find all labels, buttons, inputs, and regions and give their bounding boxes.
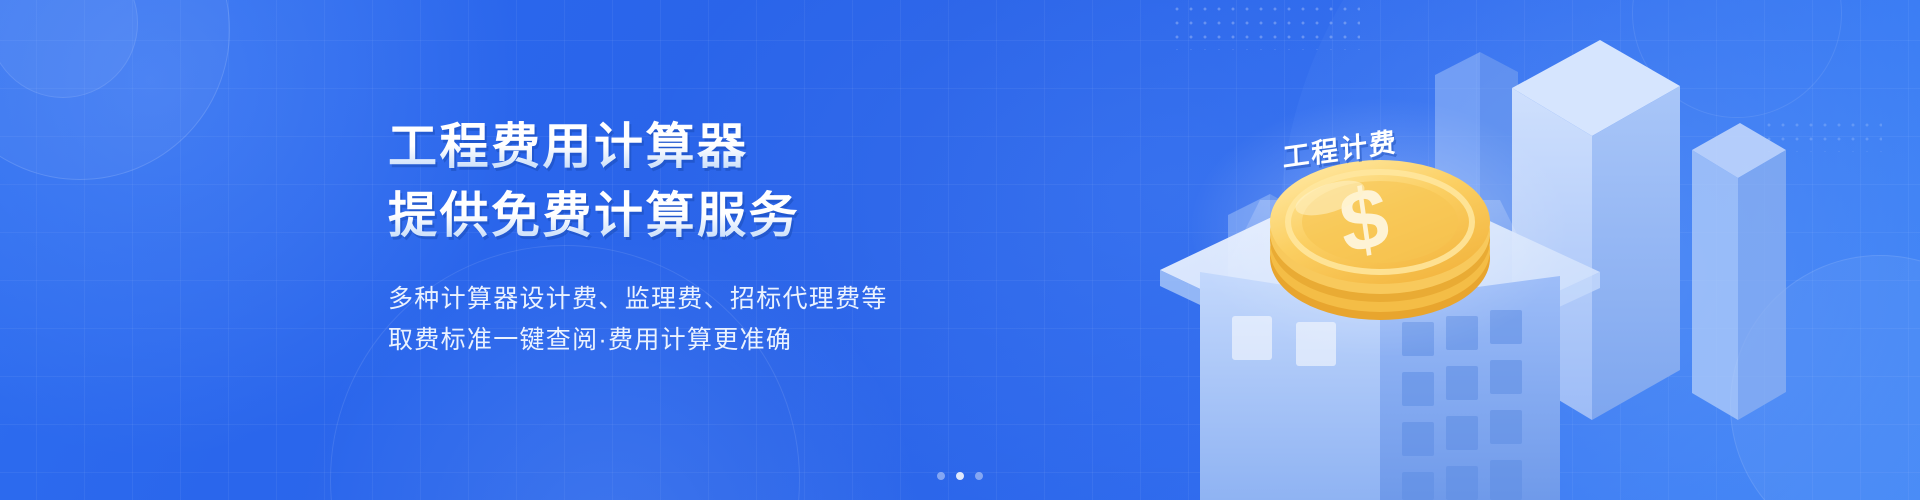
building-bar-far-right	[1692, 123, 1786, 420]
banner-subtitle-line-1: 多种计算器设计费、监理费、招标代理费等	[388, 279, 1028, 320]
decorative-circle-large-left	[0, 0, 230, 180]
carousel-pagination[interactable]	[0, 472, 1920, 480]
banner-illustration: $	[1080, 0, 1920, 500]
banner-subtitle-block: 多种计算器设计费、监理费、招标代理费等 取费标准一键查阅·费用计算更准确	[388, 279, 1028, 360]
decorative-circle-small-left	[0, 0, 138, 98]
banner-headline-line-2: 提供免费计算服务	[388, 185, 1028, 247]
carousel-dot-3[interactable]	[975, 472, 983, 480]
carousel-dot-2[interactable]	[956, 472, 964, 480]
carousel-dot-1[interactable]	[937, 472, 945, 480]
banner-copy-block: 工程费用计算器 提供免费计算服务 多种计算器设计费、监理费、招标代理费等 取费标…	[388, 116, 1028, 360]
banner-subtitle-line-2: 取费标准一键查阅·费用计算更准确	[388, 320, 1028, 361]
coin-stack: $	[1270, 160, 1490, 320]
banner-headline-line-1: 工程费用计算器	[388, 116, 1028, 178]
promo-banner: 工程费用计算器 提供免费计算服务 多种计算器设计费、监理费、招标代理费等 取费标…	[0, 0, 1920, 500]
